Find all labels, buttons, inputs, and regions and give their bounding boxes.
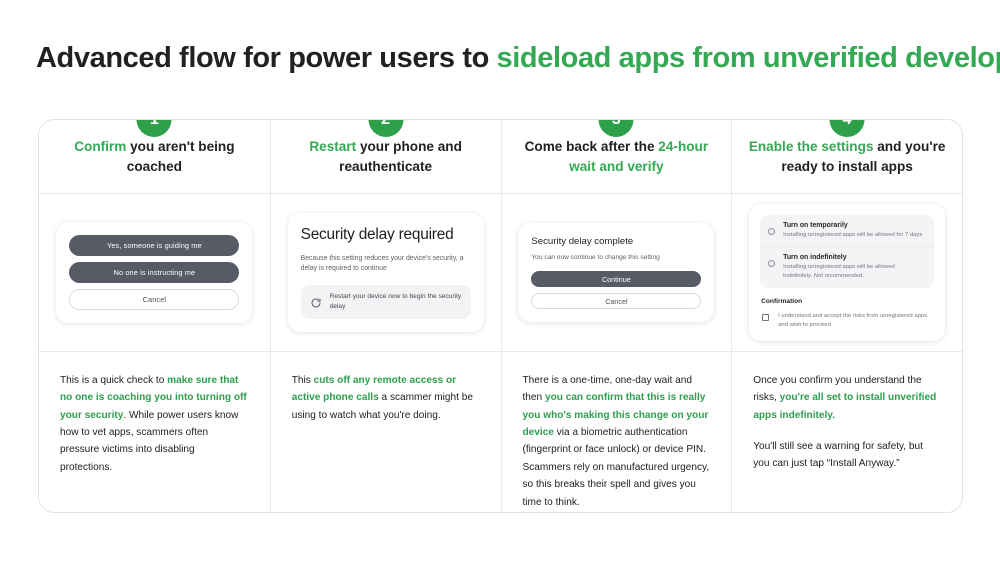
mock4-confirmation-row[interactable]: I understand and accept the risks from u… xyxy=(760,312,934,330)
step-badge-4: 4 xyxy=(830,119,865,137)
step-mock-cell-1: Yes, someone is guiding me No one is ins… xyxy=(39,193,270,351)
step-header-1: 1 Confirm you aren't being coached xyxy=(39,120,270,193)
step-header-rest-2: your phone and reauthenticate xyxy=(339,139,462,174)
step-mock-cell-4: Turn on temporarily Installing unregiste… xyxy=(731,193,962,351)
step-header-rest-1: you aren't being coached xyxy=(126,139,234,174)
step-header-lead-3: Come back after the xyxy=(525,139,659,154)
step-header-2: 2 Restart your phone and reauthenticate xyxy=(270,120,501,193)
mock4-confirmation-text: I understand and accept the risks from u… xyxy=(778,312,934,330)
mock4-option-indefinite-desc: Installing unregistered apps will be all… xyxy=(783,263,925,281)
step-header-accent-4: Enable the settings xyxy=(749,139,874,154)
mock4-option-temporary[interactable]: Turn on temporarily Installing unregiste… xyxy=(760,215,934,246)
step-header-text-3: Come back after the 24-hour wait and ver… xyxy=(518,137,716,176)
checkbox-icon[interactable] xyxy=(762,314,769,321)
step-mock-cell-3: Security delay complete You can now cont… xyxy=(501,193,732,351)
mock3-cancel-button[interactable]: Cancel xyxy=(531,293,701,309)
mock-security-delay-required: Security delay required Because this set… xyxy=(288,213,484,332)
page-title: Advanced flow for power users to sideloa… xyxy=(36,42,976,75)
mock2-restart-action-row[interactable]: Restart your device now to begin the sec… xyxy=(301,285,471,319)
step-body-text-2: This cuts off any remote access or activ… xyxy=(292,372,479,424)
mock4-option-temporary-desc: Installing unregistered apps will be all… xyxy=(783,231,922,240)
step-header-text-2: Restart your phone and reauthenticate xyxy=(287,137,485,176)
step-header-3: 3 Come back after the 24-hour wait and v… xyxy=(501,120,732,193)
mock4-option-group: Turn on temporarily Installing unregiste… xyxy=(760,215,934,288)
step-body-text-1: This is a quick check to make sure that … xyxy=(60,372,248,476)
mock1-option-yes-button[interactable]: Yes, someone is guiding me xyxy=(69,235,239,256)
mock-security-delay-complete: Security delay complete You can now cont… xyxy=(518,223,714,322)
steps-grid: 1 Confirm you aren't being coached 2 Res… xyxy=(38,119,963,513)
step-header-text-4: Enable the settings and you're ready to … xyxy=(748,137,946,176)
mock2-body: Because this setting reduces your device… xyxy=(301,254,471,275)
step-body-cell-3: There is a one-time, one-day wait and th… xyxy=(501,351,732,513)
radio-icon[interactable] xyxy=(768,260,775,267)
step-body-cell-4: Once you confirm you understand the risk… xyxy=(731,351,962,513)
mock1-option-no-button[interactable]: No one is instructing me xyxy=(69,262,239,283)
step-body-text-3: There is a one-time, one-day wait and th… xyxy=(523,372,710,511)
mock1-cancel-button[interactable]: Cancel xyxy=(69,289,239,310)
step-header-accent-2: Restart xyxy=(309,139,356,154)
step-badge-1: 1 xyxy=(137,119,172,137)
mock4-option-indefinite-title: Turn on indefinitely xyxy=(783,254,925,261)
page-title-lead: Advanced flow for power users to xyxy=(36,42,497,74)
page-title-accent: sideload apps from unverified developers xyxy=(497,42,1000,74)
mock3-title: Security delay complete xyxy=(531,236,701,247)
step-body-cell-2: This cuts off any remote access or activ… xyxy=(270,351,501,513)
mock-enable-settings: Turn on temporarily Installing unregiste… xyxy=(749,204,945,341)
radio-icon[interactable] xyxy=(768,228,775,235)
step-badge-2: 2 xyxy=(368,119,403,137)
mock4-option-temporary-title: Turn on temporarily xyxy=(783,222,922,229)
step-header-4: 4 Enable the settings and you're ready t… xyxy=(731,120,962,193)
mock2-restart-label: Restart your device now to begin the sec… xyxy=(330,292,462,312)
mock2-title: Security delay required xyxy=(301,226,471,244)
mock4-option-indefinite[interactable]: Turn on indefinitely Installing unregist… xyxy=(760,246,934,287)
step-mock-cell-2: Security delay required Because this set… xyxy=(270,193,501,351)
step-body-text-4: Once you confirm you understand the risk… xyxy=(753,372,940,473)
mock4-confirmation-label: Confirmation xyxy=(761,298,934,305)
step-header-text-1: Confirm you aren't being coached xyxy=(55,137,254,176)
mock3-body: You can now continue to change this sett… xyxy=(531,254,701,261)
mock3-continue-button[interactable]: Continue xyxy=(531,271,701,287)
restart-icon xyxy=(310,296,322,308)
step-body-cell-1: This is a quick check to make sure that … xyxy=(39,351,270,513)
infographic-page: Advanced flow for power users to sideloa… xyxy=(0,0,1000,563)
step-header-accent-1: Confirm xyxy=(74,139,126,154)
step-badge-3: 3 xyxy=(599,119,634,137)
mock-confirm-dialog: Yes, someone is guiding me No one is ins… xyxy=(56,222,252,323)
